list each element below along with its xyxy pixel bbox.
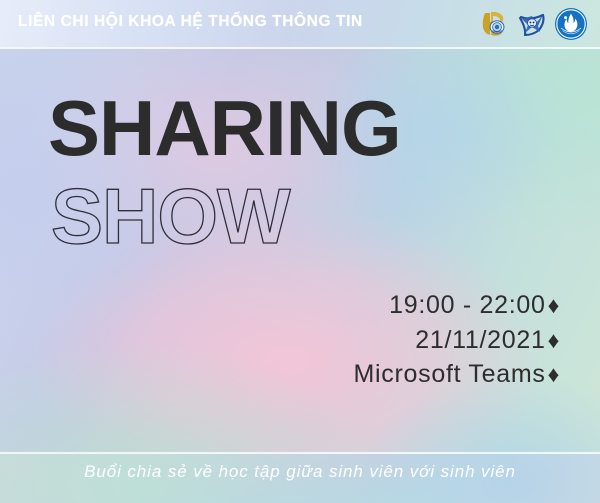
university-seal-logo (554, 7, 588, 41)
logo-row (478, 6, 588, 42)
diamond-icon: ♦ (548, 292, 560, 318)
event-time-text: 19:00 - 22:00 (389, 291, 545, 319)
header-divider-line (0, 47, 600, 49)
poster-canvas: LIÊN CHI HỘI KHOA HỆ THỐNG THÔNG TIN (0, 0, 600, 503)
event-detail-date: 21/11/2021♦ (354, 323, 560, 358)
organization-name: LIÊN CHI HỘI KHOA HỆ THỐNG THÔNG TIN (18, 13, 363, 31)
event-detail-platform: Microsoft Teams♦ (354, 357, 560, 392)
footer-tagline: Buổi chia sẻ về học tập giữa sinh viên v… (0, 462, 600, 482)
page-title: SHARING (48, 92, 401, 165)
event-details-list: 19:00 - 22:00♦ 21/11/2021♦ Microsoft Tea… (354, 288, 560, 392)
atom-star-logo (516, 8, 548, 40)
page-subtitle-outline: SHOW (51, 177, 401, 255)
event-date-text: 21/11/2021 (415, 326, 545, 354)
event-detail-time: 19:00 - 22:00♦ (354, 288, 560, 323)
event-platform-text: Microsoft Teams (354, 360, 546, 388)
headline-block: SHARING SHOW (48, 92, 401, 255)
diamond-icon: ♦ (548, 361, 560, 387)
diamond-icon: ♦ (548, 327, 560, 353)
anniversary-15-logo (478, 8, 510, 40)
